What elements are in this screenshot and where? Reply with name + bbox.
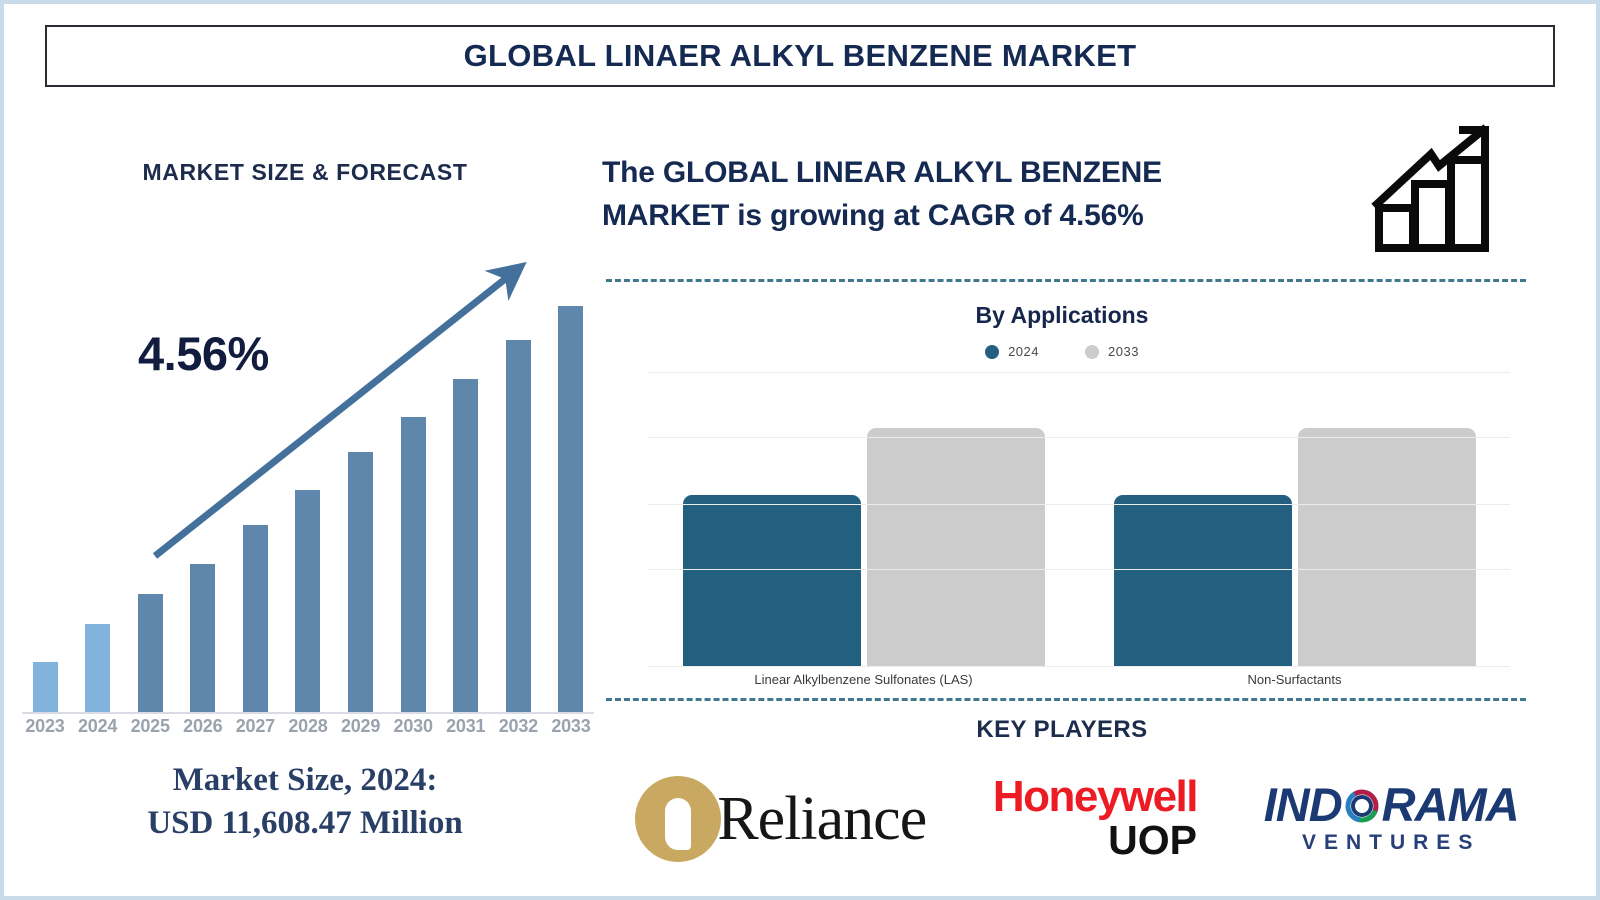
indorama-ventures-subtext: VENTURES	[1302, 828, 1480, 857]
growth-chart-icon	[1367, 122, 1497, 252]
forecast-bar	[558, 306, 583, 715]
title-box: GLOBAL LINAER ALKYL BENZENE MARKET	[45, 25, 1555, 87]
forecast-bar	[348, 452, 373, 714]
application-bar-group	[1079, 372, 1510, 666]
market-size-amount: USD 11,608.47 Million	[8, 802, 602, 845]
forecast-year-label: 2032	[495, 716, 541, 737]
forecast-bar-column	[180, 284, 226, 714]
forecast-bar-column	[338, 284, 384, 714]
application-category-labels: Linear Alkylbenzene Sulfonates (LAS)Non-…	[648, 672, 1510, 687]
logo-reliance: Reliance	[635, 759, 926, 879]
forecast-bar-column	[285, 284, 331, 714]
legend-swatch-icon	[985, 345, 999, 359]
forecast-year-label: 2029	[338, 716, 384, 737]
by-applications-legend: 20242033	[602, 344, 1522, 359]
forecast-bar-column	[232, 284, 278, 714]
application-category-label: Non-Surfactants	[1079, 672, 1510, 687]
logo-honeywell-uop: Honeywell UOP	[993, 759, 1197, 879]
market-size-label: Market Size, 2024:	[8, 759, 602, 802]
forecast-bar	[295, 490, 320, 714]
forecast-year-label: 2024	[75, 716, 121, 737]
cagr-statement-line-2: MARKET is growing at CAGR of 4.56%	[602, 195, 1317, 238]
indorama-wordmark-text: IND	[1264, 781, 1342, 828]
reliance-wordmark: Reliance	[717, 784, 926, 855]
forecast-bar-column	[127, 284, 173, 714]
application-bars-container	[648, 372, 1510, 666]
chart-gridline	[648, 569, 1510, 570]
forecast-year-label: 2033	[548, 716, 594, 737]
indorama-wordmark-text-2: RAMA	[1382, 781, 1519, 828]
forecast-bar-column	[495, 284, 541, 714]
forecast-year-label: 2025	[127, 716, 173, 737]
forecast-bar	[85, 624, 110, 714]
application-bar	[867, 428, 1045, 666]
forecast-year-labels: 2023202420252026202720282029203020312032…	[22, 716, 594, 737]
market-size-forecast-heading: MARKET SIZE & FORECAST	[8, 159, 602, 186]
forecast-bar-column	[390, 284, 436, 714]
application-bar-group	[648, 372, 1079, 666]
application-category-label: Linear Alkylbenzene Sulfonates (LAS)	[648, 672, 1079, 687]
application-bar	[1114, 495, 1292, 666]
forecast-bar-column	[548, 284, 594, 714]
divider-bottom	[606, 698, 1526, 701]
forecast-bar-column	[22, 284, 68, 714]
forecast-year-label: 2023	[22, 716, 68, 737]
market-size-forecast-chart	[22, 244, 594, 714]
forecast-year-label: 2031	[443, 716, 489, 737]
forecast-year-label: 2027	[232, 716, 278, 737]
chart-gridline	[648, 666, 1510, 667]
application-bar	[683, 495, 861, 666]
forecast-bar	[33, 662, 58, 714]
forecast-year-label: 2028	[285, 716, 331, 737]
indorama-wordmark: IND RAMA	[1264, 781, 1519, 828]
forecast-bar	[243, 525, 268, 714]
forecast-year-label: 2030	[390, 716, 436, 737]
market-size-value: Market Size, 2024: USD 11,608.47 Million	[8, 759, 602, 845]
right-panel: The GLOBAL LINEAR ALKYL BENZENE MARKET i…	[602, 104, 1600, 884]
forecast-axis-line	[22, 712, 594, 714]
reliance-flame-icon	[635, 776, 721, 862]
forecast-year-label: 2026	[180, 716, 226, 737]
forecast-bars-container	[22, 284, 594, 714]
honeywell-uop-subtext: UOP	[1108, 819, 1197, 862]
legend-label: 2033	[1108, 344, 1139, 359]
key-players-logos: Reliance Honeywell UOP IND RAMA VENTURES	[602, 754, 1552, 884]
left-panel: MARKET SIZE & FORECAST 4.56% 20232024202…	[8, 104, 602, 884]
forecast-bar-column	[443, 284, 489, 714]
forecast-bar	[401, 417, 426, 714]
cagr-statement-line-1: The GLOBAL LINEAR ALKYL BENZENE	[602, 152, 1317, 195]
page-title: GLOBAL LINAER ALKYL BENZENE MARKET	[464, 38, 1137, 74]
forecast-bar	[190, 564, 215, 715]
chart-gridline	[648, 504, 1510, 505]
legend-item[interactable]: 2033	[1085, 344, 1139, 359]
chart-gridline	[648, 372, 1510, 373]
legend-label: 2024	[1008, 344, 1039, 359]
logo-indorama-ventures: IND RAMA VENTURES	[1264, 759, 1519, 879]
divider-top	[606, 279, 1526, 282]
key-players-heading: KEY PLAYERS	[602, 716, 1522, 744]
forecast-bar	[453, 379, 478, 714]
forecast-bar	[506, 340, 531, 714]
honeywell-wordmark: Honeywell	[993, 775, 1197, 819]
legend-item[interactable]: 2024	[985, 344, 1039, 359]
forecast-bar	[138, 594, 163, 714]
chart-gridline	[648, 437, 1510, 438]
cagr-statement: The GLOBAL LINEAR ALKYL BENZENE MARKET i…	[602, 152, 1317, 237]
indorama-swoosh-icon	[1340, 784, 1384, 828]
legend-swatch-icon	[1085, 345, 1099, 359]
by-applications-chart	[648, 372, 1510, 666]
forecast-bar-column	[75, 284, 121, 714]
by-applications-heading: By Applications	[602, 302, 1522, 329]
infographic-canvas: GLOBAL LINAER ALKYL BENZENE MARKET MARKE…	[0, 0, 1600, 900]
application-bar	[1298, 428, 1476, 666]
